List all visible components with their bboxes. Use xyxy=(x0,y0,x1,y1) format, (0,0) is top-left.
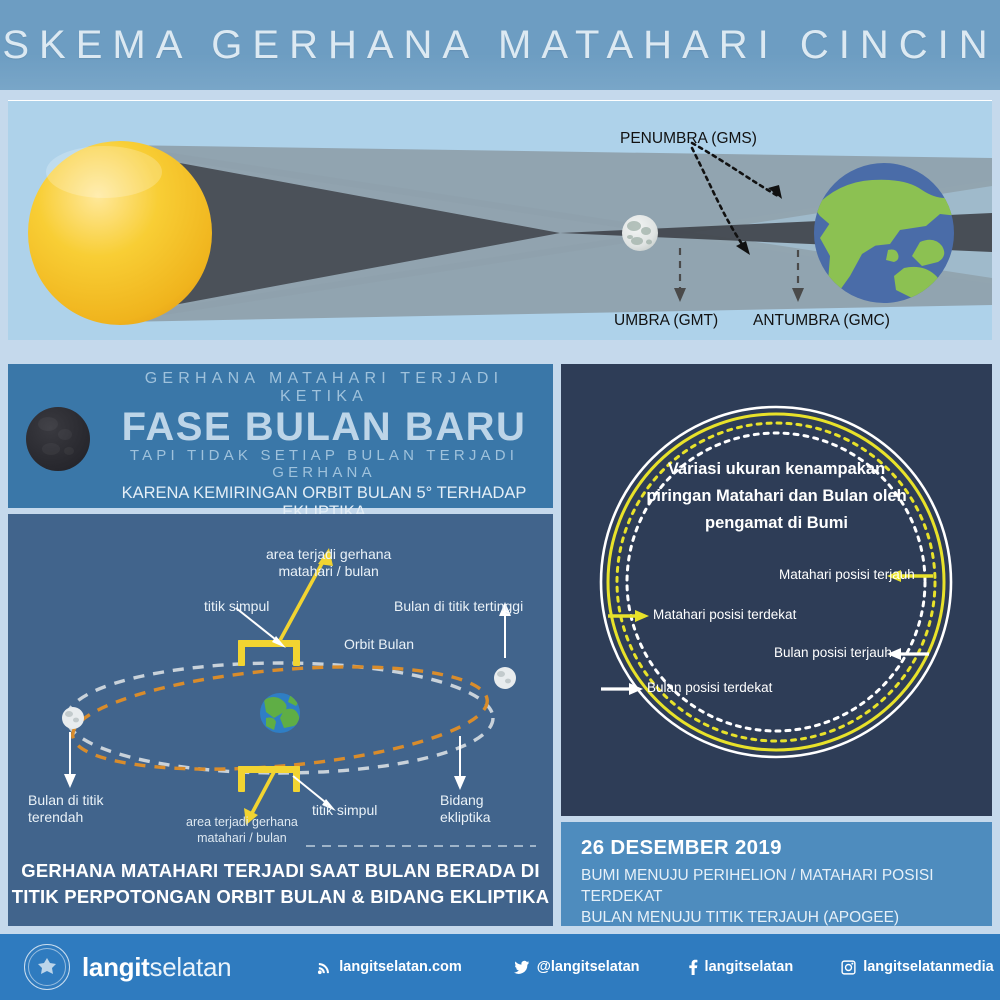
orbit-node-panel: area terjadi gerhana matahari / bulan ti… xyxy=(8,514,553,926)
label-node-bottom: titik simpul xyxy=(312,802,377,819)
label-eclipse-area-top: area terjadi gerhana matahari / bulan xyxy=(266,546,391,580)
earth-icon xyxy=(260,693,300,733)
footer-twitter-label: @langitselatan xyxy=(537,959,640,975)
newmoon-line-3: TAPI TIDAK SETIAP BULAN TERJADI GERHANA xyxy=(103,447,545,481)
label-moon-lowest-line1: Bulan di titik xyxy=(28,792,103,808)
brand-wordmark: langitselatan xyxy=(82,952,231,983)
rings-title-line2: piringan Matahari dan Bulan oleh xyxy=(561,483,992,510)
brand-bold: langit xyxy=(82,952,150,982)
new-moon-icon xyxy=(26,407,90,471)
footer-bar: langitselatan langitselatan.com @langits… xyxy=(0,934,1000,1000)
orbit-panel-caption: GERHANA MATAHARI TERJADI SAAT BULAN BERA… xyxy=(8,858,553,910)
label-eclipse-area-top-line1: area terjadi gerhana xyxy=(266,546,391,562)
label-ecliptic-line2: ekliptika xyxy=(440,809,491,825)
label-eclipse-area-top-line2: matahari / bulan xyxy=(278,563,378,579)
sun-highlight xyxy=(46,146,162,198)
orbit-caption-line1: GERHANA MATAHARI TERJADI SAAT BULAN BERA… xyxy=(8,858,553,884)
footer-link-instagram[interactable]: langitselatanmedia xyxy=(841,959,994,975)
label-sun-farthest: Matahari posisi terjauh xyxy=(779,567,915,582)
label-antumbra: ANTUMBRA (GMC) xyxy=(753,312,890,330)
langitselatan-logo-icon xyxy=(24,944,70,990)
event-note-line2: BULAN MENUJU TITIK TERJAUH (APOGEE) xyxy=(581,907,972,928)
moon-lowest-point-icon xyxy=(62,707,84,729)
footer-facebook-label: langitselatan xyxy=(705,959,794,975)
new-moon-phase-panel: GERHANA MATAHARI TERJADI KETIKA FASE BUL… xyxy=(8,364,553,508)
label-eclipse-area-bottom-line1: area terjadi gerhana xyxy=(186,815,298,829)
rings-title-line1: Variasi ukuran kenampakan xyxy=(561,456,992,483)
label-moon-farthest: Bulan posisi terjauh xyxy=(774,645,892,660)
label-eclipse-area-bottom: area terjadi gerhana matahari / bulan xyxy=(186,814,298,846)
label-node-top: titik simpul xyxy=(204,598,269,615)
newmoon-line-2: FASE BULAN BARU xyxy=(103,405,545,449)
brand-light: selatan xyxy=(150,952,232,982)
apparent-size-panel: Variasi ukuran kenampakan piringan Matah… xyxy=(561,364,992,816)
orbit-caption-line2: TITIK PERPOTONGAN ORBIT BULAN & BIDANG E… xyxy=(8,884,553,910)
label-ecliptic-line1: Bidang xyxy=(440,792,484,808)
footer-instagram-label: langitselatanmedia xyxy=(863,959,994,975)
node-marker-top xyxy=(238,640,300,666)
event-note-line1: BUMI MENUJU PERIHELION / MATAHARI POSISI… xyxy=(581,865,972,907)
apparent-size-svg xyxy=(561,364,992,816)
rings-panel-title: Variasi ukuran kenampakan piringan Matah… xyxy=(561,456,992,537)
footer-website-label: langitselatan.com xyxy=(339,959,461,975)
logo-glyph xyxy=(26,946,68,988)
newmoon-line-1: GERHANA MATAHARI TERJADI KETIKA xyxy=(103,370,545,406)
moon-lowest-arrowhead xyxy=(64,774,76,788)
infographic-page: SKEMA GERHANA MATAHARI CINCIN xyxy=(0,0,1000,1000)
eclipse-schema-svg xyxy=(8,100,992,340)
label-moon-nearest: Bulan posisi terdekat xyxy=(647,680,772,695)
label-sun-nearest: Matahari posisi terdekat xyxy=(653,607,796,622)
page-title: SKEMA GERHANA MATAHARI CINCIN xyxy=(2,23,997,68)
ecliptic-label-arrowhead xyxy=(454,776,466,790)
label-moon-orbit: Orbit Bulan xyxy=(344,636,414,653)
label-ecliptic-plane: Bidang ekliptika xyxy=(440,792,491,826)
arrow-sun-nearest xyxy=(608,610,649,622)
footer-link-website[interactable]: langitselatan.com xyxy=(317,959,461,975)
eclipse-area-arrow-bottom xyxy=(250,772,274,817)
moon-highest-point-icon xyxy=(494,667,516,689)
label-penumbra: PENUMBRA (GMS) xyxy=(620,130,757,148)
event-note: BUMI MENUJU PERIHELION / MATAHARI POSISI… xyxy=(581,865,972,928)
footer-link-facebook[interactable]: langitselatan xyxy=(688,959,794,975)
title-bar: SKEMA GERHANA MATAHARI CINCIN xyxy=(0,0,1000,90)
event-date: 26 DESEMBER 2019 xyxy=(581,836,972,860)
rings-title-line3: pengamat di Bumi xyxy=(561,510,992,537)
label-eclipse-area-bottom-line2: matahari / bulan xyxy=(197,831,287,845)
label-moon-lowest-line2: terendah xyxy=(28,809,83,825)
facebook-icon xyxy=(688,959,698,975)
label-moon-highest: Bulan di titik tertinggi xyxy=(394,598,523,615)
footer-link-twitter[interactable]: @langitselatan xyxy=(514,959,640,975)
label-umbra: UMBRA (GMT) xyxy=(614,312,718,330)
arrow-moon-nearest xyxy=(601,683,643,695)
twitter-icon xyxy=(514,960,530,975)
eclipse-schema-panel: PENUMBRA (GMS) UMBRA (GMT) ANTUMBRA (GMC… xyxy=(8,100,992,340)
rss-icon xyxy=(317,960,332,975)
instagram-icon xyxy=(841,960,856,975)
event-date-panel: 26 DESEMBER 2019 BUMI MENUJU PERIHELION … xyxy=(561,822,992,926)
moon-body xyxy=(622,215,658,251)
label-moon-lowest: Bulan di titik terendah xyxy=(28,792,103,826)
